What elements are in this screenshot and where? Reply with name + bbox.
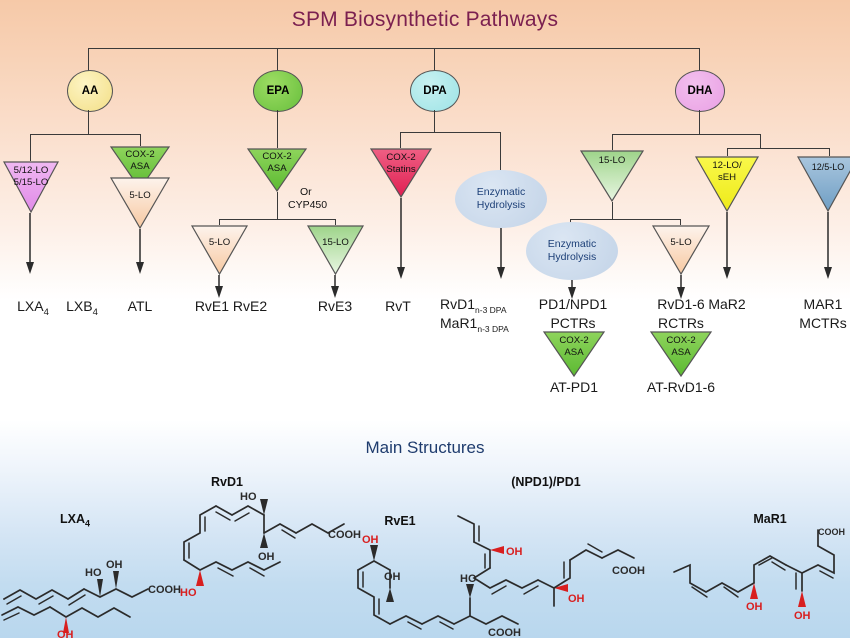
process-label-dpa-hydrolysis: Hydrolysis	[477, 199, 525, 212]
aa-right-drop	[140, 134, 141, 146]
svg-text:OH: OH	[106, 559, 123, 571]
dha-split-bar	[612, 134, 760, 135]
enzyme-triangle-epa-5lo[interactable]: 5-LO	[191, 225, 248, 275]
product-label-rctrs: RCTRs	[633, 315, 729, 331]
enzyme-triangle-at-rvd1-6-cox2-asa[interactable]: COX-2 ASA	[650, 331, 712, 377]
enzyme-triangle-dha-12lo-seh[interactable]: 12-LO/ sEH	[695, 156, 759, 212]
product-label-rve1-rve2: RvE1 RvE2	[176, 298, 286, 314]
top-bus-stub-dha	[699, 48, 700, 72]
dha-12lo-drop	[727, 148, 728, 156]
section-title-main-structures: Main Structures	[0, 438, 850, 458]
dha-15lo-drop	[612, 134, 613, 150]
product-label-rve3: RvE3	[307, 298, 363, 314]
svg-text:COOH: COOH	[148, 584, 181, 596]
figure-canvas: SPM Biosynthetic Pathways Main Structure…	[0, 0, 850, 638]
svg-text:HO: HO	[85, 567, 102, 579]
structure-name-rvd1: RvD1	[192, 475, 262, 489]
epa-down-stem	[277, 110, 278, 148]
process-oval-dpa-enzymatic-hydrolysis[interactable]: Enzymatic Hydrolysis	[455, 170, 547, 228]
enzyme-triangle-5-12-lo-5-15-lo[interactable]: 5/12-LO 5/15-LO	[3, 161, 59, 213]
svg-text:COOH: COOH	[818, 527, 845, 537]
svg-text:OH: OH	[57, 629, 74, 638]
enzyme-triangle-epa-15lo[interactable]: 15-LO	[307, 225, 364, 275]
dpa-split-bar	[400, 132, 500, 133]
product-text-rvd1: RvD1	[440, 296, 475, 312]
substrate-node-epa[interactable]: EPA	[253, 70, 303, 112]
svg-text:OH: OH	[746, 601, 763, 613]
substrate-label-dpa: DPA	[423, 85, 446, 97]
substrate-label-aa: AA	[82, 85, 99, 97]
svg-text:COOH: COOH	[612, 565, 645, 577]
process-label-dha-hydrolysis: Hydrolysis	[548, 251, 596, 264]
svg-text:OH: OH	[362, 534, 379, 546]
product-label-mar2: MaR2	[697, 296, 757, 312]
product-label-atl: ATL	[112, 298, 168, 314]
svg-text:OH: OH	[506, 546, 523, 558]
dha-down-stem	[699, 110, 700, 134]
product-sub-rvd1-n3dpa: n-3 DPA	[475, 305, 507, 315]
substrate-label-dha: DHA	[688, 85, 713, 97]
structure-sub-lxa4: 4	[85, 519, 90, 529]
product-text-lxa4: LXA	[17, 298, 43, 314]
epa-split-bar	[219, 219, 335, 220]
product-sub-lxa4: 4	[44, 307, 49, 318]
aa-left-drop	[30, 134, 31, 161]
svg-text:HO: HO	[240, 491, 257, 503]
product-label-at-rvd1-6: AT-RvD1-6	[626, 379, 736, 395]
top-bus-stub-dpa	[434, 48, 435, 72]
product-label-at-pd1: AT-PD1	[533, 379, 615, 395]
product-label-rvt: RvT	[373, 298, 423, 314]
dha-sub-drop	[760, 134, 761, 148]
dha-15lo-split-bar	[570, 219, 680, 220]
svg-text:COOH: COOH	[488, 627, 521, 638]
dha-15lo-stem	[612, 202, 613, 219]
enzyme-triangle-aa-5lo[interactable]: 5-LO	[110, 177, 170, 229]
substrate-node-aa[interactable]: AA	[67, 70, 113, 112]
substrate-label-epa: EPA	[267, 85, 290, 97]
chemical-structure-lxa4: HO OH COOH OH	[2, 535, 187, 638]
top-bus-stub-aa	[88, 48, 89, 72]
svg-text:HO: HO	[180, 587, 197, 599]
enzyme-triangle-dpa-cox2-statins[interactable]: COX-2 Statins	[370, 148, 432, 198]
aa-down-stem	[88, 110, 89, 134]
product-sub-lxb4: 4	[93, 307, 98, 318]
process-oval-dha-enzymatic-hydrolysis[interactable]: Enzymatic Hydrolysis	[526, 222, 618, 280]
substrate-node-dha[interactable]: DHA	[675, 70, 725, 112]
svg-text:OH: OH	[568, 593, 585, 605]
dpa-right-drop	[500, 132, 501, 170]
product-label-mar1: MAR1	[790, 296, 850, 312]
product-label-lxb4: LXB4	[54, 298, 110, 318]
product-text-mar1-n3: MaR1	[440, 315, 477, 331]
svg-text:OH: OH	[258, 551, 275, 563]
chemical-structure-mar1: OH OH COOH	[670, 515, 850, 633]
svg-text:OH: OH	[794, 610, 811, 622]
process-label-dpa-enzymatic: Enzymatic	[477, 186, 525, 199]
page-title: SPM Biosynthetic Pathways	[0, 8, 850, 32]
enzyme-triangle-dha-12-5-lo[interactable]: 12/5-LO	[797, 156, 850, 212]
structure-name-npd1-pd1: (NPD1)/PD1	[486, 475, 606, 489]
arrow-to-lxa4-lxb4	[24, 213, 36, 280]
process-label-dha-enzymatic: Enzymatic	[548, 238, 596, 251]
dha-125lo-drop	[829, 148, 830, 156]
structure-text-lxa4: LXA	[60, 512, 85, 526]
product-label-mctrs: MCTRs	[790, 315, 850, 331]
svg-text:OH: OH	[384, 571, 401, 583]
arrow-to-mar2	[721, 212, 733, 285]
note-or-cyp450: Or CYP450	[288, 186, 358, 212]
arrow-to-mar1-mctrs	[822, 212, 834, 285]
dha-sub-split-bar	[727, 148, 829, 149]
top-bus-line	[88, 48, 700, 49]
product-text-lxb4: LXB	[66, 298, 92, 314]
enzyme-triangle-at-pd1-cox2-asa[interactable]: COX-2 ASA	[543, 331, 605, 377]
note-or: Or	[288, 186, 358, 199]
note-cyp450: CYP450	[288, 199, 358, 212]
enzyme-triangle-dha-5lo[interactable]: 5-LO	[652, 225, 710, 275]
dpa-down-stem	[434, 110, 435, 132]
product-label-lxa4: LXA4	[5, 298, 61, 318]
product-label-pd1-npd1: PD1/NPD1	[520, 296, 626, 312]
structure-name-lxa4: LXA4	[40, 512, 110, 529]
substrate-node-dpa[interactable]: DPA	[410, 70, 460, 112]
chemical-structure-npd1-pd1: OH OH COOH	[440, 508, 665, 626]
top-bus-stub-epa	[277, 48, 278, 72]
product-label-pctrs: PCTRs	[520, 315, 626, 331]
enzyme-triangle-dha-15lo[interactable]: 15-LO	[580, 150, 644, 202]
product-sub-mar1-n3dpa: n-3 DPA	[477, 324, 509, 334]
aa-split-bar	[30, 134, 140, 135]
dpa-left-drop	[400, 132, 401, 148]
epa-mid-stem	[277, 192, 278, 219]
arrow-to-rvd1-n3dpa	[495, 228, 507, 285]
arrow-to-rvt	[395, 198, 407, 285]
arrow-to-atl	[134, 229, 146, 280]
